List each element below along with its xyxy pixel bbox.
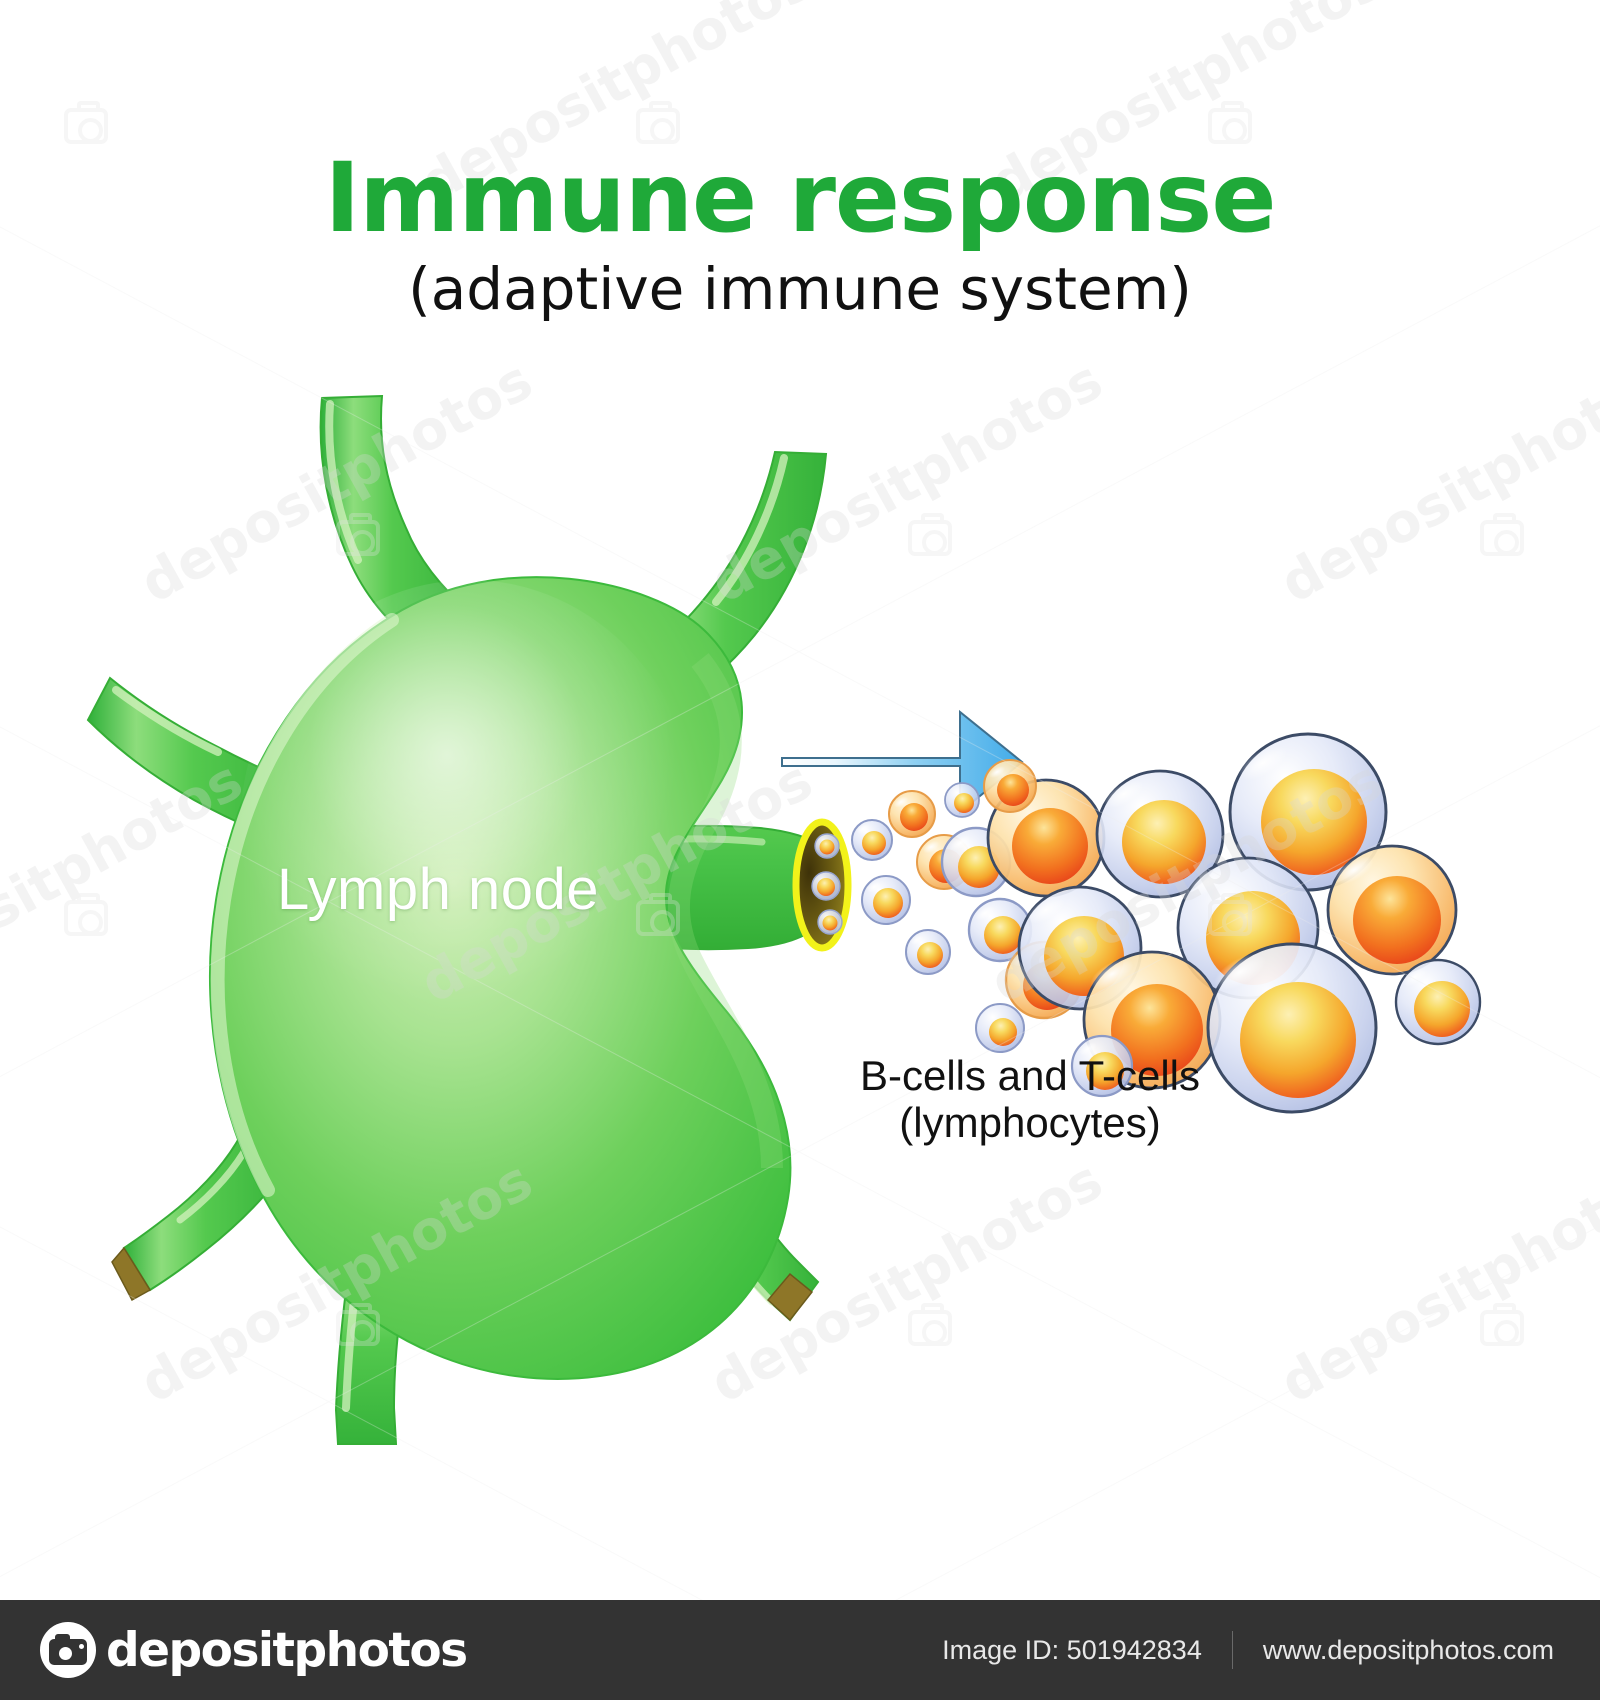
footer-meta: Image ID: 501942834 www.depositphotos.co… xyxy=(942,1631,1554,1669)
depositphotos-logo[interactable]: depositphotos xyxy=(40,1622,467,1678)
illustration-page: depositphotos depositphotos depositphoto… xyxy=(0,0,1600,1700)
lymphocyte xyxy=(976,1004,1024,1052)
page-title: Immune response xyxy=(0,150,1600,246)
lymphocyte xyxy=(852,820,892,860)
lymphocyte xyxy=(945,783,979,817)
lymphocyte xyxy=(1328,846,1456,974)
lymphocyte-caption-line2: (lymphocytes) xyxy=(820,1099,1240,1146)
image-id: Image ID: 501942834 xyxy=(942,1635,1202,1666)
lymphocyte-caption-line1: B-cells and T-cells xyxy=(820,1052,1240,1099)
footer-brand-text: depositphotos xyxy=(106,1623,467,1678)
title-block: Immune response (adaptive immune system) xyxy=(0,150,1600,318)
page-subtitle: (adaptive immune system) xyxy=(0,260,1600,318)
camera-icon xyxy=(40,1622,96,1678)
lymphocyte xyxy=(984,760,1036,812)
website-url[interactable]: www.depositphotos.com xyxy=(1263,1635,1554,1666)
lymphocyte xyxy=(906,930,950,974)
lymphocyte xyxy=(862,876,910,924)
footer-bar: depositphotos Image ID: 501942834 www.de… xyxy=(0,1600,1600,1700)
lymph-node-body xyxy=(210,577,790,1379)
footer-divider xyxy=(1232,1631,1233,1669)
lymphocyte-caption: B-cells and T-cells (lymphocytes) xyxy=(820,1052,1240,1146)
lymphocyte xyxy=(889,791,935,837)
lymphocyte xyxy=(1396,960,1480,1044)
